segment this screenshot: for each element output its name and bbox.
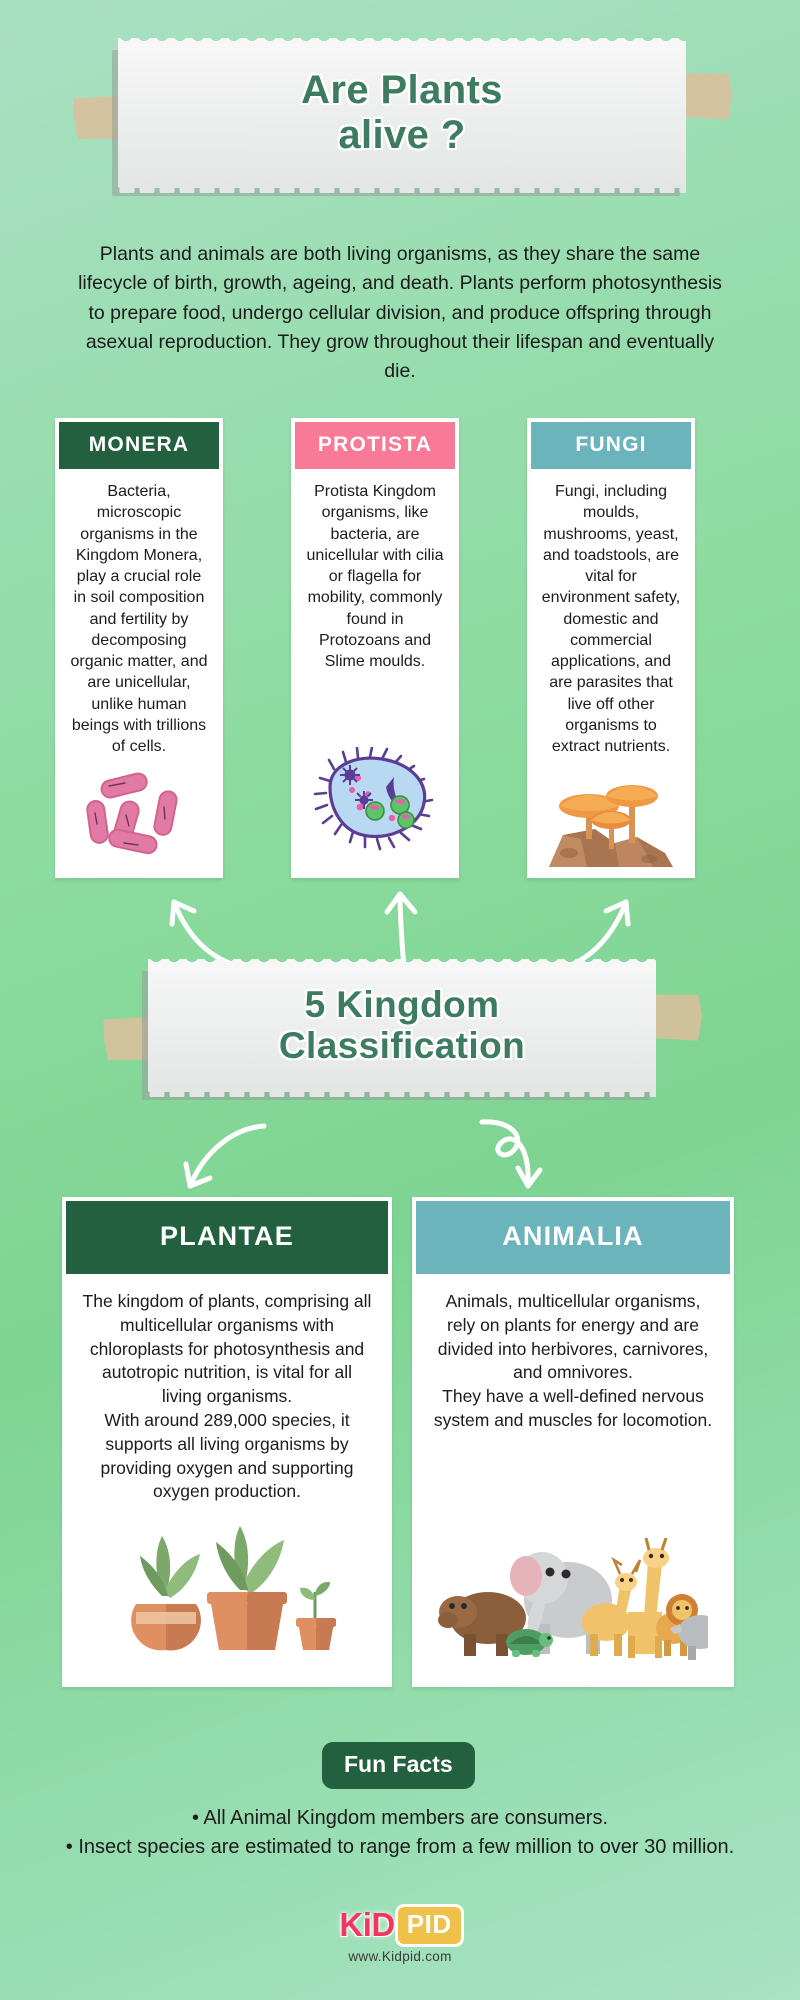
arrow-to-protista-icon [372,880,432,970]
header-banner: Are Plants alive ? [118,42,686,188]
mid-banner-title-line2: Classification [279,1026,525,1067]
kingdom-card-protista[interactable]: PROTISTA Protista Kingdom organisms, lik… [291,418,459,878]
header-paper: Are Plants alive ? [118,42,686,188]
bacteria-illustration [59,763,219,879]
kingdom-card-plantae[interactable]: PLANTAE The kingdom of plants, comprisin… [62,1197,392,1687]
arrow-to-animalia-icon [452,1118,562,1204]
page-title: Are Plants alive ? [301,68,503,158]
card-body-plantae: The kingdom of plants, comprising all mu… [66,1274,388,1522]
arrow-to-fungi-icon [562,880,652,970]
infographic-canvas: Are Plants alive ? Plants and animals ar… [0,0,800,2000]
card-header-monera: MONERA [59,422,219,469]
arrow-to-plantae-icon [160,1120,270,1202]
card-body-monera: Bacteria, microscopic organisms in the K… [59,469,219,763]
card-header-animalia: ANIMALIA [416,1201,730,1274]
arrow-to-monera-icon [148,880,238,970]
card-header-fungi: FUNGI [531,422,691,469]
paramecium-illustration [295,743,455,874]
logo-url: www.Kidpid.com [0,1949,800,1964]
kingdom-card-animalia[interactable]: ANIMALIA Animals, multicellular organism… [412,1197,734,1687]
fun-facts-list: • All Animal Kingdom members are consume… [62,1804,738,1862]
card-header-plantae: PLANTAE [66,1201,388,1274]
card-body-protista: Protista Kingdom organisms, like bacteri… [295,469,455,743]
animals-group-illustration [416,1522,730,1683]
page-title-line1: Are Plants [301,68,503,113]
card-header-protista: PROTISTA [295,422,455,469]
mid-banner: 5 Kingdom Classification [148,963,656,1092]
potted-plants-illustration [66,1522,388,1683]
kidpid-logo[interactable]: KiD PID [339,1906,460,1944]
intro-paragraph: Plants and animals are both living organ… [74,240,726,386]
kingdom-card-monera[interactable]: MONERA Bacteria, microscopic organisms i… [55,418,223,878]
kingdom-card-fungi[interactable]: FUNGI Fungi, including moulds, mushrooms… [527,418,695,878]
mid-banner-paper: 5 Kingdom Classification [148,963,656,1092]
mushrooms-illustration [531,763,691,889]
fun-facts-badge: Fun Facts [322,1742,475,1789]
page-title-line2: alive ? [301,113,503,158]
logo-kid-text: KiD [339,1906,394,1944]
logo-pid-text: PID [398,1907,461,1944]
footer-logo[interactable]: KiD PID www.Kidpid.com [0,1906,800,1964]
mid-banner-title: 5 Kingdom Classification [279,985,525,1066]
card-body-animalia: Animals, multicellular organisms, rely o… [416,1274,730,1522]
mid-banner-title-line1: 5 Kingdom [279,985,525,1026]
card-body-fungi: Fungi, including moulds, mushrooms, yeas… [531,469,691,763]
